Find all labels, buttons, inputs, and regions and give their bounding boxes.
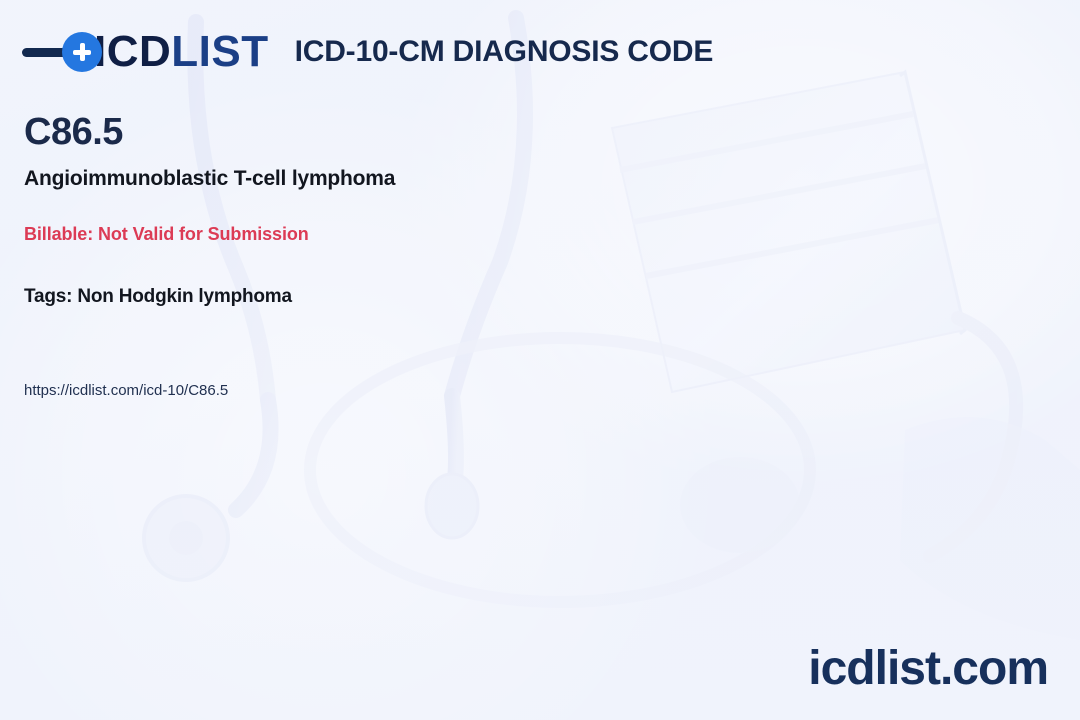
logo-word-secondary: LIST <box>171 27 268 76</box>
logo-word-primary: ICD <box>94 27 171 76</box>
diagnosis-code: C86.5 <box>24 113 123 153</box>
diagnosis-description: Angioimmunoblastic T-cell lymphoma <box>24 166 395 191</box>
tags-line: Tags: Non Hodgkin lymphoma <box>24 286 292 309</box>
icdlist-logo[interactable]: ICDLIST <box>22 30 269 74</box>
site-watermark: icdlist.com <box>808 643 1048 696</box>
source-url[interactable]: https://icdlist.com/icd-10/C86.5 <box>24 382 228 400</box>
logo-wordmark: ICDLIST <box>94 30 269 74</box>
card-header: ICDLIST ICD-10-CM DIAGNOSIS CODE <box>22 24 1058 80</box>
card-content: ICDLIST ICD-10-CM DIAGNOSIS CODE C86.5 A… <box>0 0 1080 720</box>
billable-status: Billable: Not Valid for Submission <box>24 224 309 246</box>
page-title: ICD-10-CM DIAGNOSIS CODE <box>295 35 714 69</box>
plus-badge-icon <box>62 32 102 72</box>
icd-code-card: ICDLIST ICD-10-CM DIAGNOSIS CODE C86.5 A… <box>0 0 1080 720</box>
